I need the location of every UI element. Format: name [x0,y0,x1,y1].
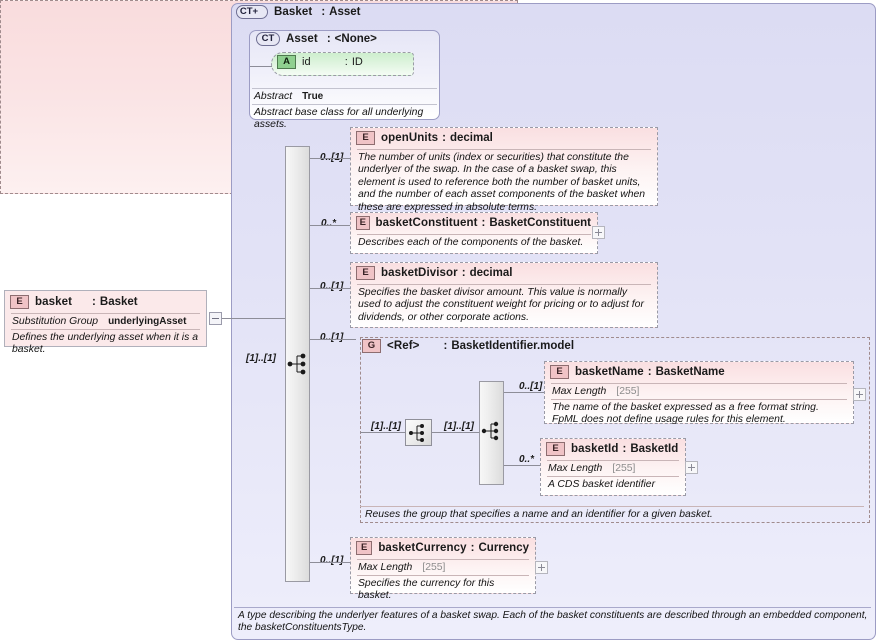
basketCurrency-maxlength-value: [255] [422,562,445,573]
basketCurrency-separator: : [471,542,475,554]
collapse-toggle-icon[interactable] [209,312,222,325]
basketDivisor-cardinality: 0..[1] [320,281,343,292]
basketId-name: basketId [571,443,618,455]
basketConstituent-connector [310,225,350,226]
root-element-separator: : [92,296,96,308]
basketDivisor-description: Specifies the basket divisor amount. Thi… [351,285,657,327]
container-title: CT+ Basket : Asset [236,5,361,19]
root-element-basket[interactable]: E basket : Basket Substitution Group und… [4,290,207,347]
element-openUnits[interactable]: E openUnits : decimal The number of unit… [350,127,658,206]
root-element-name: basket [35,296,72,308]
group-ref-footer: Reuses the group that specifies a name a… [358,507,866,524]
container-footer-divider [234,607,871,608]
openUnits-connector [310,158,350,159]
root-element-type: Basket [100,296,138,308]
asset-title: CT Asset : <None> [256,32,377,46]
openUnits-description: The number of units (index or securities… [351,150,657,217]
attribute-badge: A [277,55,296,69]
sequence-icon [287,353,309,375]
element-badge: E [356,541,372,555]
element-basketConstituent[interactable]: E basketConstituent : BasketConstituent … [350,212,598,254]
id-attribute-type: ID [352,56,363,68]
group-sequence-1-out-line [432,432,444,433]
group-sequence-2-cardinality: [1]..[1] [444,421,474,432]
openUnits-type: decimal [450,132,493,144]
basketName-separator: : [648,366,652,378]
root-element-description: Defines the underlying asset when it is … [5,330,206,360]
openUnits-separator: : [442,132,446,144]
sequence-entry-line [232,318,285,319]
root-connector-line [222,318,232,319]
basketConstituent-title: E basketConstituent : BasketConstituent [351,213,597,234]
group-ref-type: BasketIdentifier.model [451,340,574,352]
id-attribute-separator: : [345,56,348,68]
basketConstituent-cardinality: 0..* [321,218,336,229]
element-badge: E [10,295,29,309]
basketCurrency-maxlength-facet: Max Length [255] [351,560,535,575]
group-badge: G [362,339,381,353]
asset-separator: : [327,33,331,45]
openUnits-title: E openUnits : decimal [351,128,657,149]
basketCurrency-description: Specifies the currency for this basket. [351,576,535,606]
id-attribute-title: A id : ID [277,55,363,69]
basketId-maxlength-facet: Max Length [255] [541,461,685,476]
container-separator: : [321,6,325,18]
root-element-title: E basket : Basket [5,291,206,313]
container-type: Asset [329,6,360,18]
root-substitution-group-value: underlyingAsset [108,316,186,327]
basketConstituent-separator: : [482,217,486,229]
basketName-maxlength-value: [255] [616,386,639,397]
basketCurrency-title: E basketCurrency : Currency [351,538,535,559]
group-sequence-2-in-line [444,432,479,433]
basketCurrency-maxlength-label: Max Length [358,562,412,573]
element-basketDivisor[interactable]: E basketDivisor : decimal Specifies the … [350,262,658,328]
basketId-connector [504,465,540,466]
element-basketCurrency[interactable]: E basketCurrency : Currency Max Length [… [350,537,536,594]
element-badge: E [356,131,375,145]
element-basketName[interactable]: E basketName : BasketName Max Length [25… [544,361,854,424]
basketId-cardinality: 0..* [519,454,534,465]
root-substitution-group-facet: Substitution Group underlyingAsset [5,314,206,329]
basketId-type: BasketId [630,443,678,455]
basketDivisor-type: decimal [470,267,513,279]
container-name: Basket [274,6,312,18]
basketConstituent-description: Describes each of the components of the … [351,235,597,252]
basketName-description: The name of the basket expressed as a fr… [545,400,853,430]
sequence-icon [481,420,503,442]
basketCurrency-cardinality: 0..[1] [320,555,343,566]
group-ref-connector [310,339,356,340]
asset-name: Asset [286,33,318,45]
basketId-expand-button[interactable] [685,461,698,474]
basketName-maxlength-facet: Max Length [255] [545,384,853,399]
basketName-name: basketName [575,366,644,378]
main-sequence-cardinality: [1]..[1] [246,353,276,364]
basketId-separator: : [622,443,626,455]
container-footer-text: A type describing the underlyer features… [234,610,879,634]
openUnits-name: openUnits [381,132,438,144]
basketCurrency-connector [310,562,350,563]
basketName-cardinality: 0..[1] [519,381,542,392]
group-sequence-1-cardinality: [1]..[1] [371,421,401,432]
basketName-connector [504,392,544,393]
basketId-description: A CDS basket identifier [541,477,685,494]
asset-abstract-facet: Abstract True [252,89,437,104]
element-badge: E [546,442,565,456]
group-sequence-1-in-line [360,432,405,433]
complextype-badge: CT [256,32,280,46]
basketDivisor-name: basketDivisor [381,267,458,279]
element-badge: E [356,216,370,230]
basketDivisor-title: E basketDivisor : decimal [351,263,657,284]
basketId-maxlength-label: Max Length [548,463,602,474]
basketName-maxlength-label: Max Length [552,386,606,397]
basketDivisor-connector [310,288,350,289]
root-substitution-group-label: Substitution Group [12,316,98,327]
element-badge: E [550,365,569,379]
basketCurrency-type: Currency [479,542,530,554]
basketId-maxlength-value: [255] [612,463,635,474]
group-ref-cardinality: 0..[1] [320,332,343,343]
group-ref-title: G <Ref> : BasketIdentifier.model [362,339,574,353]
basketCurrency-name: basketCurrency [378,542,466,554]
group-ref-name: <Ref> [387,340,419,352]
basketCurrency-expand-button[interactable] [535,561,548,574]
basketName-title: E basketName : BasketName [545,362,853,383]
basketConstituent-expand-button[interactable] [592,226,605,239]
group-ref-separator: : [443,340,447,352]
element-badge: E [356,266,375,280]
basketName-expand-button[interactable] [853,388,866,401]
asset-abstract-value: True [302,91,323,102]
complextype-expand-badge[interactable]: CT+ [236,5,268,19]
id-connector-line [250,66,272,67]
basketName-type: BasketName [656,366,725,378]
basketId-title: E basketId : BasketId [541,439,685,460]
basketConstituent-type: BasketConstituent [489,217,591,229]
asset-type: <None> [335,33,377,45]
element-basketId[interactable]: E basketId : BasketId Max Length [255] A… [540,438,686,496]
sequence-icon [408,422,430,444]
basketConstituent-name: basketConstituent [376,217,478,229]
basketDivisor-separator: : [462,267,466,279]
id-attribute-name: id [302,56,311,68]
asset-abstract-label: Abstract [254,91,292,102]
